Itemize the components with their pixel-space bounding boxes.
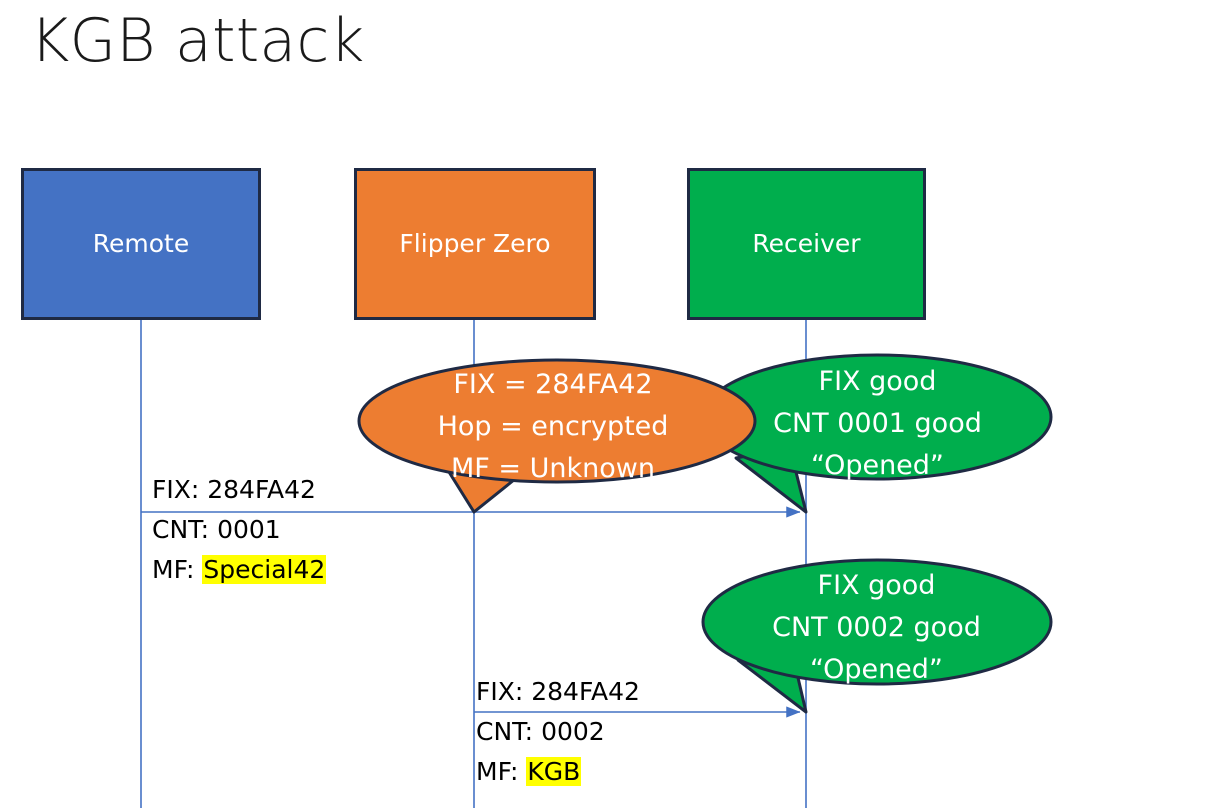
message-line-value: 284FA42	[207, 475, 316, 504]
message-line: CNT: 0001	[152, 510, 326, 550]
callout-line: FIX = 284FA42	[373, 364, 733, 406]
message-line-value: 0002	[541, 717, 605, 746]
message-line-prefix: MF:	[152, 555, 202, 584]
slide-canvas: KGB attack	[0, 0, 1218, 808]
callout-line: FIX good	[724, 361, 1031, 403]
message-line: MF: Special42	[152, 550, 326, 590]
message-line: MF: KGB	[476, 752, 640, 792]
message-line: FIX: 284FA42	[476, 672, 640, 712]
callout-line: CNT 0002 good	[711, 607, 1042, 649]
callout-line: Hop = encrypted	[373, 406, 733, 448]
callout-line: “Opened”	[711, 649, 1042, 691]
callout-line: “Opened”	[724, 445, 1031, 487]
message-label-2: FIX: 284FA42 CNT: 0002 MF: KGB	[476, 672, 640, 792]
message-line-prefix: CNT:	[476, 717, 541, 746]
message-line-value: 0001	[217, 515, 281, 544]
actor-box-receiver[interactable]: Receiver	[687, 168, 926, 320]
message-line-prefix: CNT:	[152, 515, 217, 544]
callout-line: MF = Unknown	[373, 448, 733, 490]
message-line-value-highlighted: KGB	[526, 757, 581, 786]
actor-label-remote: Remote	[93, 230, 189, 258]
message-line-prefix: FIX:	[152, 475, 207, 504]
message-line: FIX: 284FA42	[152, 470, 326, 510]
callout-line: CNT 0001 good	[724, 403, 1031, 445]
message-line: CNT: 0002	[476, 712, 640, 752]
actor-box-flipper[interactable]: Flipper Zero	[354, 168, 596, 320]
callout-text-flipper: FIX = 284FA42 Hop = encrypted MF = Unkno…	[373, 364, 733, 490]
message-label-1: FIX: 284FA42 CNT: 0001 MF: Special42	[152, 470, 326, 590]
message-line-value-highlighted: Special42	[202, 555, 326, 584]
message-line-prefix: FIX:	[476, 677, 531, 706]
message-line-value: 284FA42	[531, 677, 640, 706]
callout-text-receiver-2: FIX good CNT 0002 good “Opened”	[711, 565, 1042, 691]
message-line-prefix: MF:	[476, 757, 526, 786]
callout-text-receiver-1: FIX good CNT 0001 good “Opened”	[724, 361, 1031, 487]
actor-label-receiver: Receiver	[752, 230, 860, 258]
callout-line: FIX good	[711, 565, 1042, 607]
actor-box-remote[interactable]: Remote	[21, 168, 261, 320]
actor-label-flipper: Flipper Zero	[399, 230, 550, 258]
